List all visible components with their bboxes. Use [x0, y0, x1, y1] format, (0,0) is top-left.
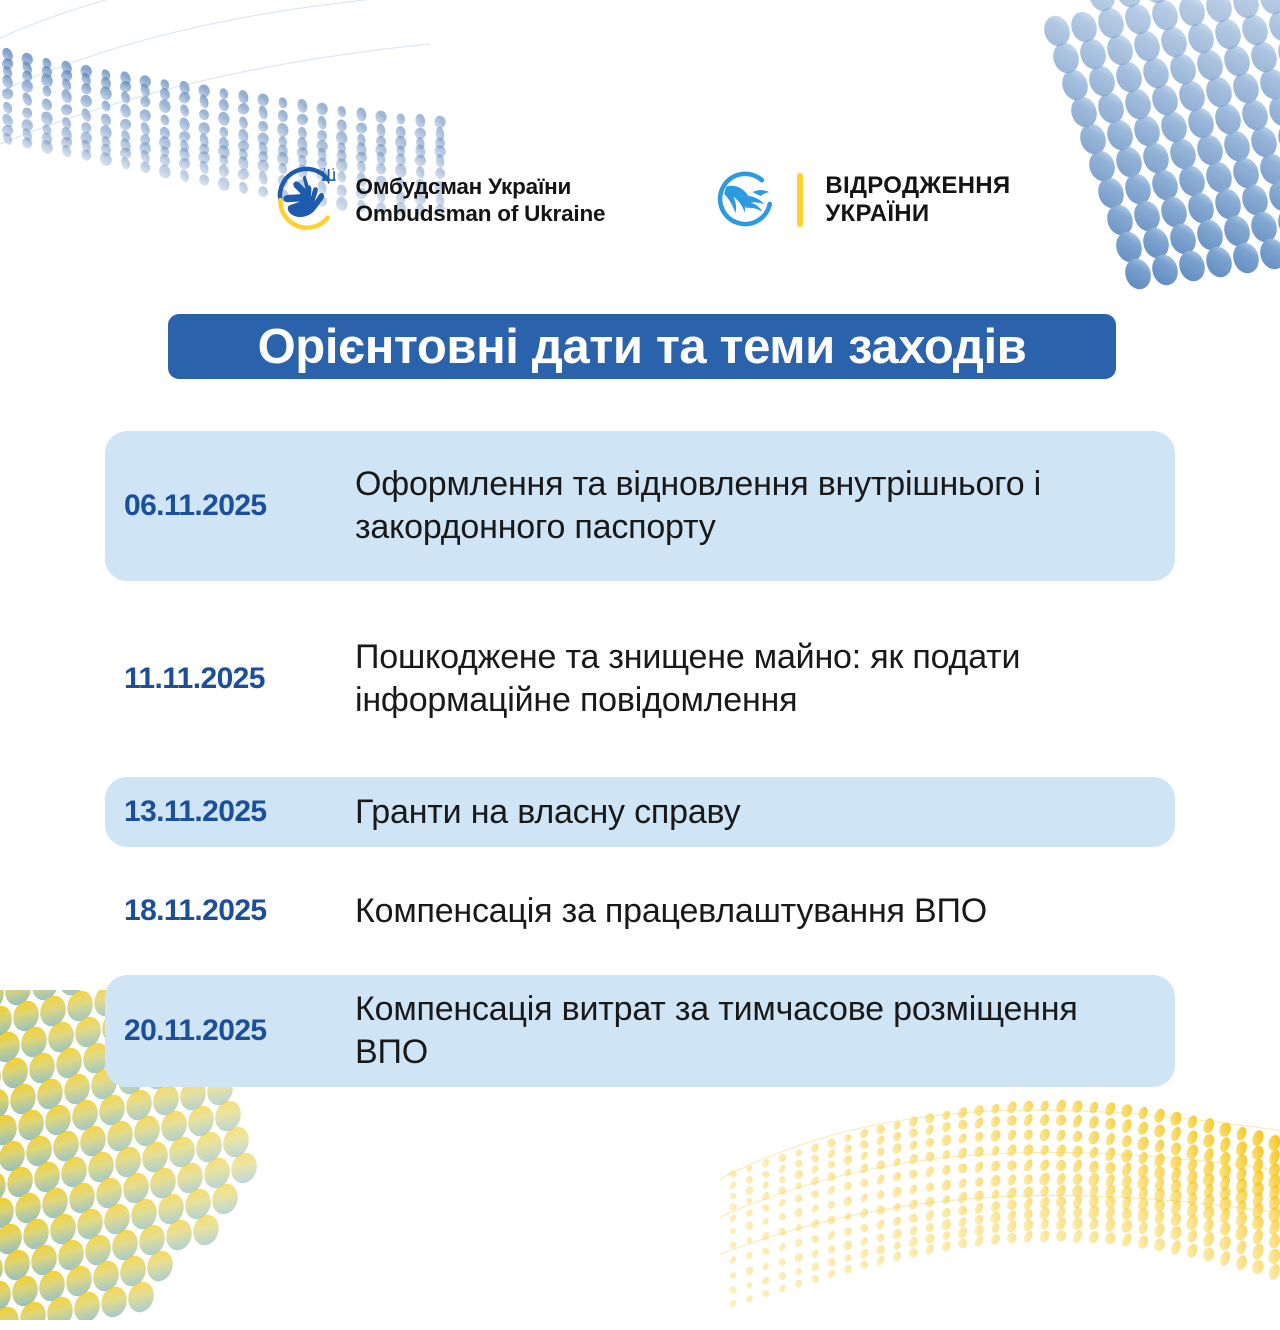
dove-in-circle-with-trident-icon — [270, 163, 344, 237]
schedule-row: 20.11.2025 Компенсація витрат за тимчасо… — [105, 975, 1175, 1087]
event-date: 20.11.2025 — [105, 1014, 355, 1048]
ombudsman-logo-line-2: Ombudsman of Ukraine — [356, 200, 606, 227]
phoenix-in-circle-icon — [713, 167, 779, 233]
vidrodzhennia-logo-line-2: УКРАЇНИ — [825, 200, 1010, 228]
schedule-row: 13.11.2025 Гранти на власну справу — [105, 777, 1175, 847]
ombudsman-of-ukraine-logo: Омбудсман України Ombudsman of Ukraine — [270, 163, 606, 237]
vidrodzhennia-ukrainy-logo: ВІДРОДЖЕННЯ УКРАЇНИ — [713, 167, 1010, 233]
event-topic: Пошкоджене та знищене майно: як подати і… — [355, 636, 1175, 722]
event-date: 06.11.2025 — [105, 489, 355, 523]
event-topic: Компенсація витрат за тимчасове розміщен… — [355, 988, 1175, 1074]
logo-bar: Омбудсман України Ombudsman of Ukraine В… — [0, 163, 1280, 237]
logo-divider — [797, 173, 803, 227]
vidrodzhennia-logo-line-1: ВІДРОДЖЕННЯ — [825, 172, 1010, 200]
schedule-row: 06.11.2025 Оформлення та відновлення вну… — [105, 431, 1175, 581]
ombudsman-logo-line-1: Омбудсман України — [356, 173, 606, 200]
event-date: 18.11.2025 — [105, 894, 355, 928]
event-topic: Гранти на власну справу — [355, 791, 1175, 834]
dotted-grid-top-right-decoration — [990, 0, 1280, 290]
page-title-banner: Орієнтовні дати та теми заходів — [168, 314, 1116, 379]
page-title: Орієнтовні дати та теми заходів — [258, 319, 1027, 375]
event-date: 13.11.2025 — [105, 795, 355, 829]
schedule-row: 18.11.2025 Компенсація за працевлаштуван… — [105, 847, 1175, 975]
schedule-list: 06.11.2025 Оформлення та відновлення вну… — [105, 431, 1175, 1087]
event-topic: Компенсація за працевлаштування ВПО — [355, 890, 1175, 933]
event-topic: Оформлення та відновлення внутрішнього і… — [355, 463, 1175, 549]
schedule-row: 11.11.2025 Пошкоджене та знищене майно: … — [105, 581, 1175, 777]
event-date: 11.11.2025 — [105, 662, 355, 696]
